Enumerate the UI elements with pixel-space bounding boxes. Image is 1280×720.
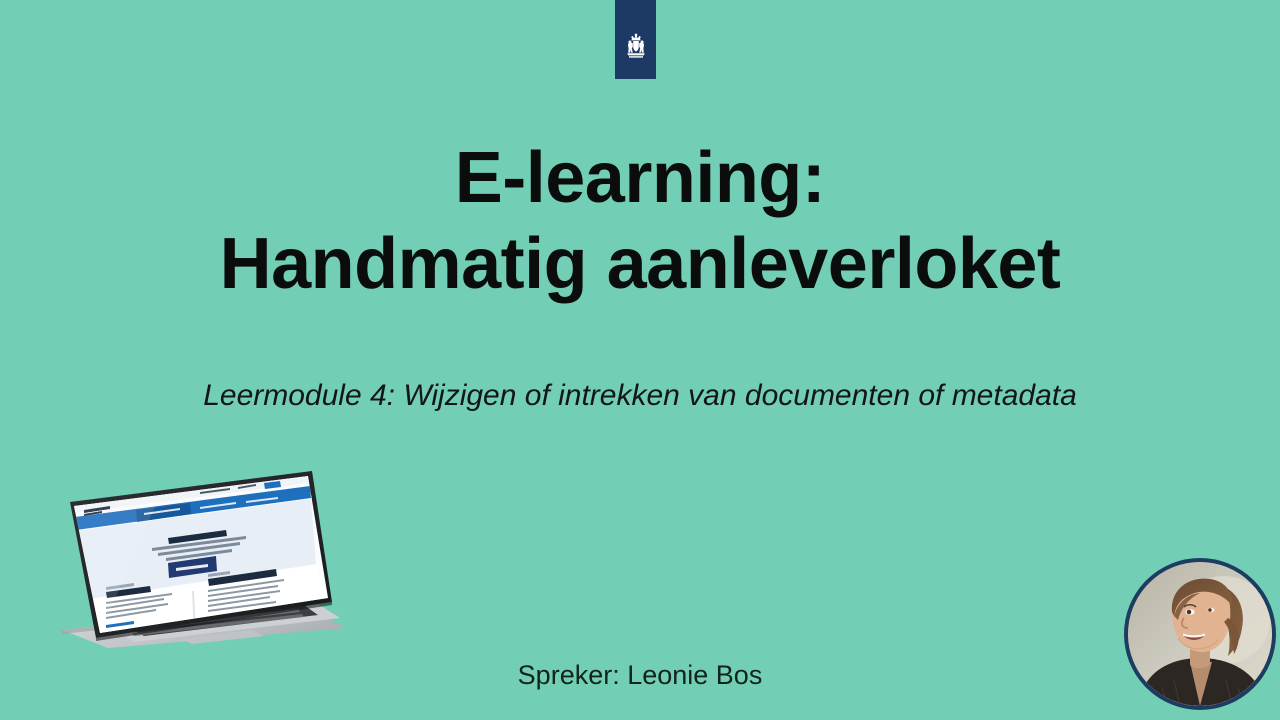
speaker-label: Spreker: Leonie Bos <box>0 660 1280 691</box>
title-line-2: Handmatig aanleverloket <box>0 226 1280 302</box>
presentation-title-slide: E-learning: Handmatig aanleverloket Leer… <box>0 0 1280 720</box>
laptop-icon <box>40 452 350 648</box>
slide-title: E-learning: Handmatig aanleverloket <box>0 140 1280 303</box>
rijksoverheid-banner <box>615 0 656 79</box>
speaker-portrait-avatar-icon <box>1128 562 1272 706</box>
title-line-1: E-learning: <box>0 140 1280 216</box>
slide-subtitle: Leermodule 4: Wijzigen of intrekken van … <box>0 378 1280 414</box>
rijksoverheid-coat-of-arms-icon <box>623 32 649 62</box>
speaker-avatar <box>1124 558 1276 710</box>
laptop-illustration <box>40 452 350 648</box>
